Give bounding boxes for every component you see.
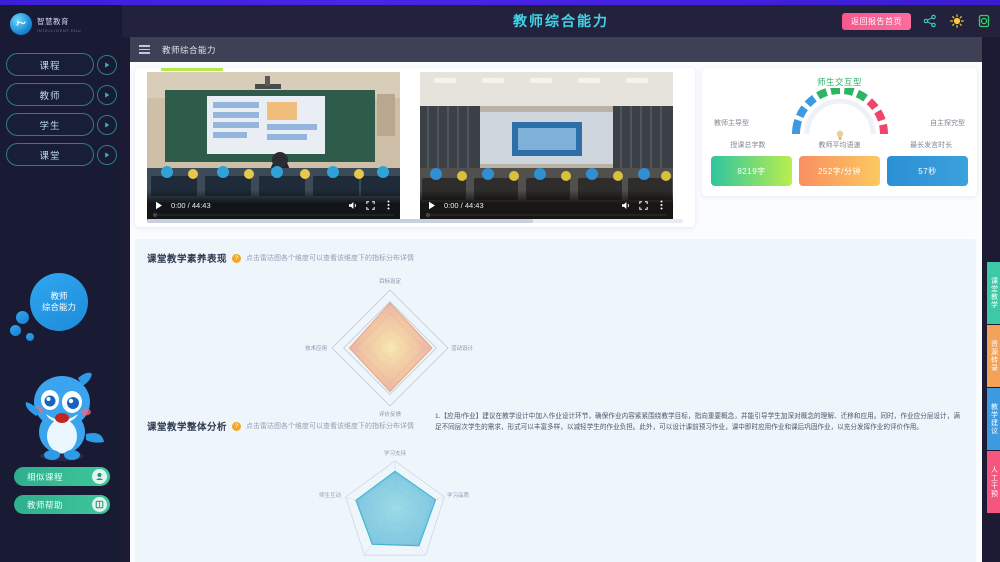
video-time-left: 0:00 / 44:43 bbox=[171, 201, 211, 210]
stat-boxes-row: 8219字 252字/分钟 57秒 bbox=[711, 156, 968, 186]
video-list: 0:00 / 44:43 bbox=[135, 72, 695, 224]
similar-courses-label: 相似课程 bbox=[27, 471, 63, 483]
stat-label-total-words: 授课总字数 bbox=[702, 140, 794, 150]
sidebar-item-student-label: 学生 bbox=[39, 118, 60, 132]
play-icon[interactable] bbox=[153, 200, 164, 211]
more-options-icon[interactable] bbox=[656, 200, 667, 211]
logo-badge-icon bbox=[10, 13, 32, 35]
tab-resource-transcript-label: 资源转录 bbox=[989, 340, 999, 372]
volume-icon[interactable] bbox=[347, 200, 358, 211]
mascot-speech-bubble: 教师 综合能力 bbox=[8, 263, 118, 343]
overall-section-hint: 点击雷达图各个维度可以查看该维度下的指标分布详情 bbox=[246, 421, 414, 431]
content-area: 教师综合能力 bbox=[122, 37, 1000, 562]
radar-axis-label-1: 活动设计 bbox=[451, 344, 474, 352]
radar-axis-label-4: 师生互动 bbox=[319, 491, 342, 499]
tab-teaching-advice-label: 教学建议 bbox=[989, 403, 999, 435]
menu-toggle-icon[interactable] bbox=[139, 45, 150, 54]
stat-value-total-words: 8219字 bbox=[711, 156, 792, 186]
overall-radar-chart[interactable]: 学习支持 学习品质 自己管理支持 社会情感支持 师生互动 bbox=[290, 447, 500, 562]
book-icon bbox=[92, 497, 107, 512]
video-card: 0:00 / 44:43 bbox=[135, 68, 695, 227]
sidebar-item-student[interactable]: 学生 bbox=[6, 113, 118, 136]
bubble-line-2: 综合能力 bbox=[42, 302, 76, 313]
sidebar-item-classroom-label: 课堂 bbox=[39, 148, 60, 162]
stat-value-speech-rate: 252字/分钟 bbox=[799, 156, 880, 186]
top-cards-row: 0:00 / 44:43 bbox=[130, 62, 982, 232]
dolphin-mascot-icon bbox=[16, 360, 108, 465]
suggestion-paragraph: 1.【应用/作业】建议在教学设计中加入作业设计环节，确保作业内容紧紧围绕教学目标… bbox=[435, 411, 960, 433]
return-report-home-button[interactable]: 返回报告首页 bbox=[842, 13, 911, 30]
similar-courses-button[interactable]: 相似课程 bbox=[14, 467, 110, 486]
bubble-text: 教师 综合能力 bbox=[30, 273, 88, 331]
sidebar-item-course-label: 课程 bbox=[39, 58, 60, 72]
more-options-icon[interactable] bbox=[383, 200, 394, 211]
interaction-gauge-chart bbox=[775, 88, 905, 140]
left-sidebar: 智慧教育 INTELLIGENT EDU 课程 教师 bbox=[0, 5, 122, 562]
video-controls-right: 0:00 / 44:43 bbox=[420, 190, 673, 220]
sidebar-item-course-pill: 课程 bbox=[6, 53, 94, 76]
gauge-title: 师生交互型 bbox=[702, 76, 977, 88]
tab-manual-intervention-label: 人工干预 bbox=[989, 466, 999, 498]
play-arrow-icon[interactable] bbox=[97, 115, 117, 135]
brightness-icon[interactable] bbox=[948, 13, 965, 30]
app-root: 智慧教育 INTELLIGENT EDU 课程 教师 bbox=[0, 0, 1000, 562]
help-icon[interactable]: ? bbox=[232, 422, 241, 431]
analysis-panel: 课堂教学素养表现 ? 点击雷达图各个维度可以查看该维度下的指标分布详情 bbox=[135, 239, 976, 562]
sidebar-item-teacher-label: 教师 bbox=[39, 88, 60, 102]
help-icon[interactable]: ? bbox=[232, 254, 241, 263]
video-time-right: 0:00 / 44:43 bbox=[444, 201, 484, 210]
sidebar-item-classroom[interactable]: 课堂 bbox=[6, 143, 118, 166]
stat-labels-row: 授课总字数 教师平均语速 最长发言时长 bbox=[702, 140, 977, 150]
stat-label-longest-speech: 最长发言时长 bbox=[885, 140, 977, 150]
interaction-type-card: 师生交互型 bbox=[702, 68, 977, 196]
literacy-section-hint: 点击雷达图各个维度可以查看该维度下的指标分布详情 bbox=[246, 253, 414, 263]
sidebar-item-student-pill: 学生 bbox=[6, 113, 94, 136]
tab-classroom-teaching[interactable]: 课堂教学 bbox=[987, 262, 1000, 324]
radar-axis-label-1: 学习品质 bbox=[447, 491, 470, 499]
logo-title: 智慧教育 bbox=[37, 16, 81, 27]
sidebar-item-course[interactable]: 课程 bbox=[6, 53, 118, 76]
play-arrow-icon[interactable] bbox=[97, 85, 117, 105]
radar-axis-label-0: 学习支持 bbox=[384, 449, 407, 457]
logo[interactable]: 智慧教育 INTELLIGENT EDU bbox=[10, 13, 81, 35]
overall-section-header: 课堂教学整体分析 ? 点击雷达图各个维度可以查看该维度下的指标分布详情 bbox=[147, 419, 414, 433]
bubble-dot bbox=[26, 333, 34, 341]
tab-classroom-teaching-label: 课堂教学 bbox=[989, 277, 999, 309]
gauge-left-label: 教师主导型 bbox=[714, 118, 749, 128]
logo-subtitle: INTELLIGENT EDU bbox=[37, 28, 81, 33]
literacy-radar-chart[interactable]: 目标设定 活动设计 评价反馈 技术应用 bbox=[285, 275, 495, 425]
video-player-left[interactable]: 0:00 / 44:43 bbox=[147, 72, 400, 220]
tab-manual-intervention[interactable]: 人工干预 bbox=[987, 451, 1000, 513]
video-scroll-track[interactable] bbox=[147, 219, 683, 223]
tab-resource-transcript[interactable]: 资源转录 bbox=[987, 325, 1000, 387]
overall-section-title: 课堂教学整体分析 bbox=[147, 419, 227, 433]
sidebar-item-teacher[interactable]: 教师 bbox=[6, 83, 118, 106]
sub-toolbar: 教师综合能力 bbox=[130, 37, 982, 62]
teacher-help-label: 教师帮助 bbox=[27, 499, 63, 511]
vertical-tab-strip: 课堂教学 资源转录 教学建议 人工干预 bbox=[987, 262, 1000, 514]
bubble-dot bbox=[16, 311, 29, 324]
tab-teaching-advice[interactable]: 教学建议 bbox=[987, 388, 1000, 450]
fullscreen-icon[interactable] bbox=[638, 200, 649, 211]
card-accent-bar bbox=[161, 68, 223, 71]
video-player-right[interactable]: 0:00 / 44:43 bbox=[420, 72, 673, 220]
sidebar-item-classroom-pill: 课堂 bbox=[6, 143, 94, 166]
literacy-section-header: 课堂教学素养表现 ? 点击雷达图各个维度可以查看该维度下的指标分布详情 bbox=[147, 251, 414, 265]
teacher-help-button[interactable]: 教师帮助 bbox=[14, 495, 110, 514]
stat-label-speech-rate: 教师平均语速 bbox=[794, 140, 886, 150]
play-arrow-icon[interactable] bbox=[97, 145, 117, 165]
bubble-line-1: 教师 bbox=[50, 291, 67, 302]
video-controls-left: 0:00 / 44:43 bbox=[147, 190, 400, 220]
literacy-section-title: 课堂教学素养表现 bbox=[147, 251, 227, 265]
sidebar-nav: 课程 教师 学生 bbox=[6, 53, 118, 173]
bubble-dot bbox=[10, 325, 21, 336]
play-arrow-icon[interactable] bbox=[97, 55, 117, 75]
volume-icon[interactable] bbox=[620, 200, 631, 211]
gauge-right-label: 自主探究型 bbox=[930, 118, 965, 128]
share-icon[interactable] bbox=[921, 13, 938, 30]
sidebar-action-buttons: 相似课程 教师帮助 bbox=[14, 467, 110, 523]
user-icon bbox=[92, 469, 107, 484]
video-scroll-thumb bbox=[147, 219, 533, 223]
header-actions: 返回报告首页 bbox=[842, 13, 992, 30]
radar-axis-label-2: 评价反馈 bbox=[379, 410, 402, 418]
sidebar-item-teacher-pill: 教师 bbox=[6, 83, 94, 106]
radar-axis-label-3: 技术应用 bbox=[305, 344, 327, 352]
radar-axis-label-0: 目标设定 bbox=[379, 277, 402, 285]
stat-value-longest-speech: 57秒 bbox=[887, 156, 968, 186]
fullscreen-icon[interactable] bbox=[365, 200, 376, 211]
play-icon[interactable] bbox=[426, 200, 437, 211]
app-header: 教师综合能力 返回报告首页 bbox=[122, 5, 1000, 37]
breadcrumb: 教师综合能力 bbox=[162, 44, 216, 56]
device-icon[interactable] bbox=[975, 13, 992, 30]
